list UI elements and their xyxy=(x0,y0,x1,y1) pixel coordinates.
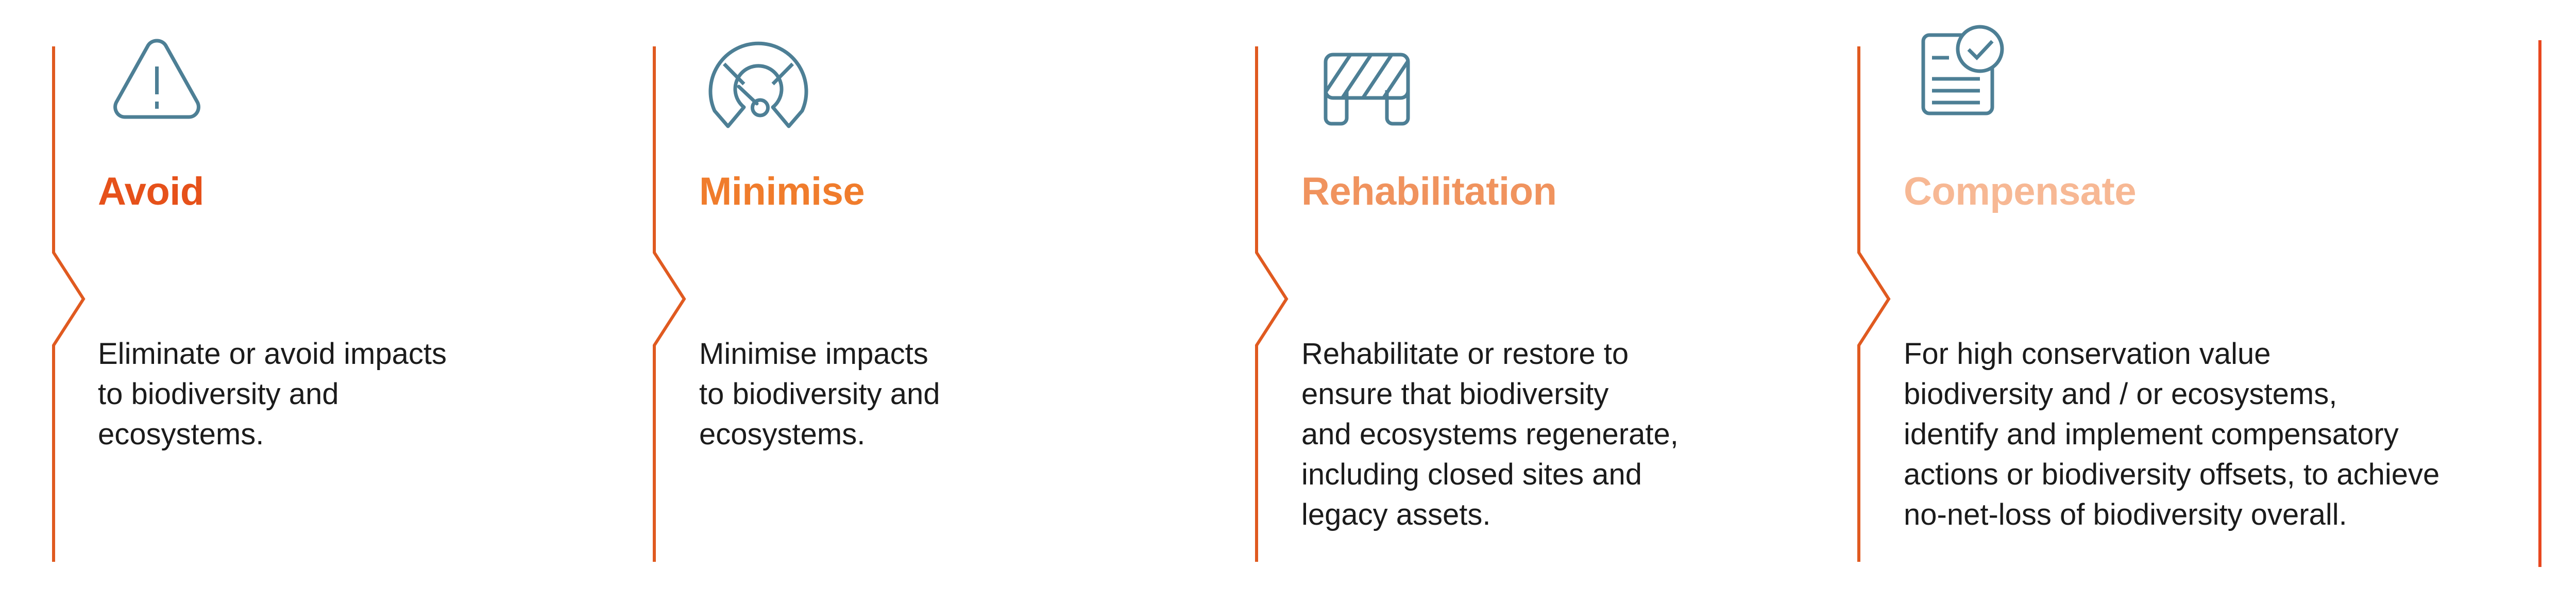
column-avoid: Avoid Eliminate or avoid impacts to biod… xyxy=(98,0,634,601)
column-heading-compensate: Compensate xyxy=(1904,170,2136,213)
column-rehabilitation: Rehabilitation Rehabilitate or restore t… xyxy=(1301,0,1837,601)
column-heading-rehabilitation: Rehabilitation xyxy=(1301,170,1556,213)
column-body-rehabilitation: Rehabilitate or restore to ensure that b… xyxy=(1301,334,1837,535)
column-body-compensate: For high conservation value biodiversity… xyxy=(1904,334,2522,535)
column-heading-avoid: Avoid xyxy=(98,170,204,213)
column-compensate: Compensate For high conservation value b… xyxy=(1904,0,2522,601)
construction-barrier-icon xyxy=(1301,28,1430,147)
column-body-minimise: Minimise impacts to biodiversity and eco… xyxy=(699,334,1214,455)
column-minimise: Minimise Minimise impacts to biodiversit… xyxy=(699,0,1235,601)
mitigation-hierarchy-diagram: Avoid Eliminate or avoid impacts to biod… xyxy=(0,0,2576,601)
gauge-speedometer-icon xyxy=(699,28,828,147)
warning-triangle-icon xyxy=(98,28,227,147)
document-check-icon xyxy=(1904,15,2032,134)
column-heading-minimise: Minimise xyxy=(699,170,865,213)
column-body-avoid: Eliminate or avoid impacts to biodiversi… xyxy=(98,334,613,455)
divider-end-line xyxy=(2539,40,2576,567)
